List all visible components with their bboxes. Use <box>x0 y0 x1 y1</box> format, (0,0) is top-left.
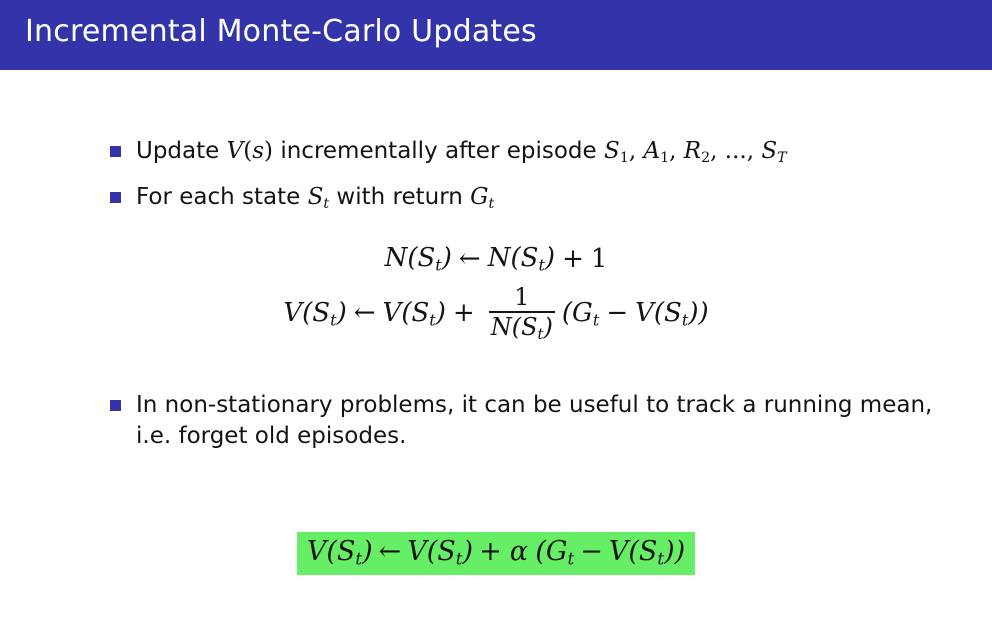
list-item-label: In non-stationary problems, it can be us… <box>136 390 940 452</box>
square-bullet-icon <box>110 400 121 411</box>
eq2-paren-close: ) <box>699 298 709 328</box>
eq2-paren-open: ( <box>562 298 572 328</box>
bullet1-s1: S1 <box>604 138 629 164</box>
equation-value-update: V(St) ← V(St) + 1 N(St) ( Gt − V(St) ) <box>0 285 992 342</box>
bullet1-a1: A1 <box>643 138 669 164</box>
eq3-plus: + <box>473 536 508 567</box>
eq3-lhs: V(St) <box>307 536 373 567</box>
eq1-arrow-icon: ← <box>452 244 488 274</box>
eq1-one: 1 <box>591 244 608 274</box>
bullet2-lead: For each state <box>136 184 308 210</box>
eq3-arrow-icon: ← <box>373 536 408 567</box>
equation-count-update: N(St) ← N(St) + 1 <box>0 243 992 275</box>
slide-header-band: Incremental Monte-Carlo Updates <box>0 0 992 70</box>
eq2-arrow-icon: ← <box>347 298 383 328</box>
bullet1-math-v-arg: (s) <box>243 138 273 164</box>
eq2-fraction-denominator: N(St) <box>489 313 555 342</box>
equation-running-mean-highlighted: V(St)←V(St)+α (Gt−V(St)) <box>297 532 695 575</box>
eq3-paren-open: ( <box>530 536 546 567</box>
bullet1-r2: R2 <box>684 138 710 164</box>
eq3-paren-close: ) <box>675 536 686 567</box>
eq3-alpha: α <box>508 536 530 567</box>
bullet1-sep3: , ..., <box>710 138 761 164</box>
eq1-rhs: N(St) <box>488 243 555 275</box>
eq1-lhs: N(St) <box>385 243 452 275</box>
bullet1-math-v: V <box>227 138 244 164</box>
list-item-label: For each state St with return Gt <box>136 182 494 220</box>
eq3-return: Gt <box>546 536 574 567</box>
equation-value-update-line: V(St) ← V(St) + 1 N(St) ( Gt − V(St) ) <box>283 285 708 342</box>
eq2-lhs: V(St) <box>283 298 346 330</box>
bullet1-sep1: , <box>629 138 644 164</box>
bullet2-mid: with return <box>329 184 470 210</box>
square-bullet-icon <box>110 192 121 203</box>
eq3-rhs: V(St) <box>407 536 473 567</box>
eq3-minus: − <box>574 536 609 567</box>
eq1-plus: + <box>555 244 591 274</box>
list-item-for-each-state: For each state St with return Gt <box>110 182 940 220</box>
bullet1-sep2: , <box>669 138 684 164</box>
list-item-label: Update V(s) incrementally after episode … <box>136 136 787 174</box>
eq3-value: V(St) <box>609 536 675 567</box>
eq2-fraction-numerator: 1 <box>514 285 529 311</box>
eq2-plus: + <box>446 298 482 328</box>
eq2-return: Gt <box>572 298 599 330</box>
eq2-minus: − <box>599 298 635 328</box>
bullet1-st: ST <box>761 138 786 164</box>
equation-count-update-line: N(St) ← N(St) + 1 <box>385 243 608 275</box>
bullet2-state-symbol: St <box>308 184 330 210</box>
eq2-value: V(St) <box>635 298 698 330</box>
list-item-update-v: Update V(s) incrementally after episode … <box>110 136 940 174</box>
eq2-rhs: V(St) <box>383 298 446 330</box>
bullet2-return-symbol: Gt <box>470 184 494 210</box>
highlighted-equation-wrapper: V(St)←V(St)+α (Gt−V(St)) <box>0 532 992 575</box>
slide-body: Update V(s) incrementally after episode … <box>0 70 992 620</box>
page-title: Incremental Monte-Carlo Updates <box>25 14 537 49</box>
square-bullet-icon <box>110 146 121 157</box>
list-item-non-stationary: In non-stationary problems, it can be us… <box>110 390 940 452</box>
bullet1-mid: incrementally after episode <box>273 138 604 164</box>
bullet1-lead: Update <box>136 138 227 164</box>
eq2-fraction: 1 N(St) <box>489 285 555 342</box>
